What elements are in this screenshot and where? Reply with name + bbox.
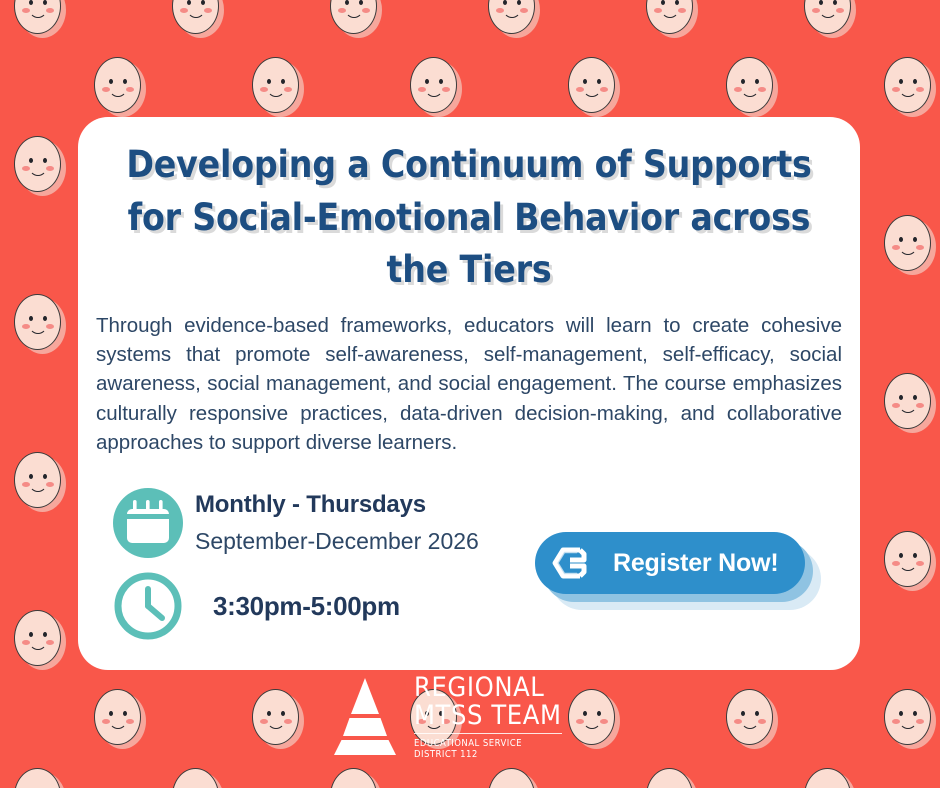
smiley-face-icon bbox=[884, 531, 936, 591]
smiley-face-icon bbox=[330, 0, 382, 38]
smiley-face-icon bbox=[726, 689, 778, 749]
smiley-face-icon bbox=[14, 452, 66, 512]
footer-line-1: REGIONAL bbox=[414, 674, 562, 702]
smiley-face-icon bbox=[330, 768, 382, 788]
clock-icon bbox=[105, 570, 191, 642]
footer-wordmark: REGIONAL MTSS TEAM EDUCATIONAL SERVICE D… bbox=[408, 674, 562, 762]
smiley-face-icon bbox=[14, 136, 66, 196]
smiley-face-icon bbox=[14, 610, 66, 670]
smiley-face-icon bbox=[94, 57, 146, 117]
smiley-face-icon bbox=[568, 689, 620, 749]
course-description: Through evidence-based frameworks, educa… bbox=[78, 297, 860, 458]
smiley-face-icon bbox=[14, 768, 66, 788]
smiley-face-icon bbox=[646, 768, 698, 788]
time-value: 3:30pm-5:00pm bbox=[195, 591, 400, 621]
event-card: Developing a Continuum of Supports for S… bbox=[78, 117, 860, 670]
smiley-face-icon bbox=[568, 57, 620, 117]
button-face[interactable]: Register Now! bbox=[535, 532, 805, 594]
date-primary: Monthly - Thursdays bbox=[195, 489, 479, 520]
smiley-face-icon bbox=[488, 0, 540, 38]
footer-subtitle: EDUCATIONAL SERVICE DISTRICT 112 bbox=[414, 733, 562, 760]
calendar-icon bbox=[105, 487, 191, 559]
smiley-face-icon bbox=[252, 57, 304, 117]
register-button-label: Register Now! bbox=[607, 549, 778, 578]
mtss-pyramid-icon bbox=[322, 675, 408, 761]
footer-line-2: MTSS TEAM bbox=[414, 702, 562, 730]
smiley-face-icon bbox=[646, 0, 698, 38]
smiley-face-icon bbox=[94, 689, 146, 749]
smiley-face-icon bbox=[804, 768, 856, 788]
smiley-face-icon bbox=[14, 0, 66, 38]
smiley-face-icon bbox=[884, 373, 936, 433]
event-details: Monthly - Thursdays September-December 2… bbox=[105, 480, 575, 646]
smiley-face-icon bbox=[172, 768, 224, 788]
smiley-face-icon bbox=[14, 294, 66, 354]
smiley-face-icon bbox=[726, 57, 778, 117]
smiley-face-icon bbox=[488, 768, 540, 788]
smiley-face-icon bbox=[172, 0, 224, 38]
smiley-face-icon bbox=[804, 0, 856, 38]
time-text-group: 3:30pm-5:00pm bbox=[191, 591, 400, 622]
smiley-face-icon bbox=[884, 689, 936, 749]
time-row: 3:30pm-5:00pm bbox=[105, 566, 575, 646]
smiley-face-icon bbox=[252, 689, 304, 749]
smiley-face-icon bbox=[410, 57, 462, 117]
smiley-face-icon bbox=[884, 215, 936, 275]
smiley-face-icon bbox=[884, 57, 936, 117]
escape-e-logo-icon bbox=[535, 538, 607, 588]
date-row: Monthly - Thursdays September-December 2… bbox=[105, 480, 575, 566]
page-title: Developing a Continuum of Supports for S… bbox=[78, 117, 860, 297]
date-text-group: Monthly - Thursdays September-December 2… bbox=[191, 489, 479, 556]
date-secondary: September-December 2026 bbox=[195, 521, 479, 557]
footer-logo: REGIONAL MTSS TEAM EDUCATIONAL SERVICE D… bbox=[322, 672, 562, 764]
register-now-button[interactable]: Register Now! bbox=[535, 532, 805, 596]
